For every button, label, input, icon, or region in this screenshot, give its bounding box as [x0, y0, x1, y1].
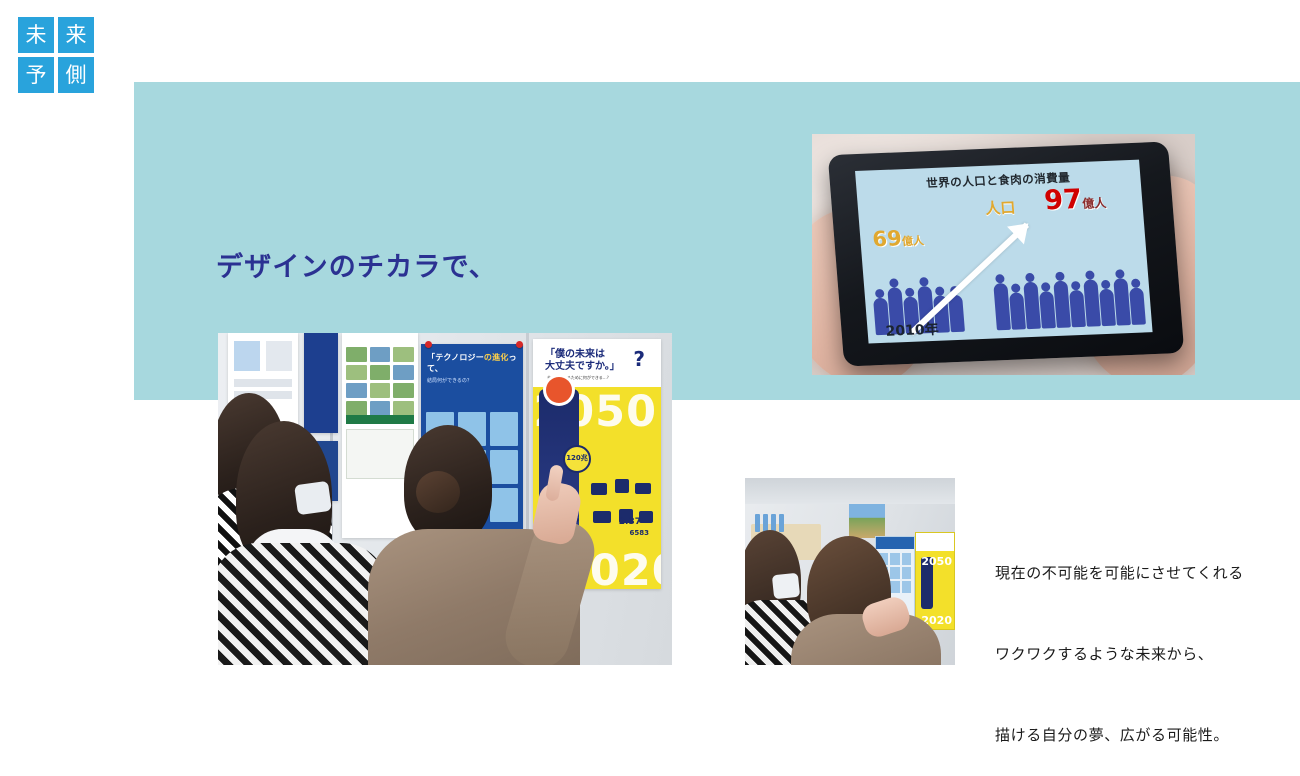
hero-headline-line-1: デザインのチカラで、	[216, 242, 610, 293]
pin-icon	[425, 341, 432, 348]
screen-start-value: 69	[871, 226, 902, 251]
poster-technology-subtitle: 結局何ができるの？	[421, 374, 523, 387]
poster-viewing-photo: 「テクノロジーの進化って、 結局何ができるの？ 「僕の未来は 大丈夫ですか。」 …	[218, 333, 672, 665]
poster-my-future-title: 「僕の未来は 大丈夫ですか。」	[545, 349, 620, 373]
classroom-face-mask	[772, 573, 800, 600]
classroom-ceiling	[745, 478, 955, 504]
student-front-left-clothing	[218, 543, 388, 665]
classroom-photo: 2050 2020	[745, 478, 955, 665]
poster-stat-6583: 6583	[630, 529, 649, 537]
screen-start-unit: 億人	[901, 234, 924, 248]
classroom-poster-year-2050: 2050	[921, 555, 952, 568]
logo-tile-yo: 予	[18, 57, 54, 93]
pin-icon	[516, 341, 523, 348]
poster-green-band	[346, 415, 414, 424]
person-icon	[1113, 269, 1131, 325]
screen-end-value-group: 97億人	[1043, 183, 1107, 216]
screen-end-unit: 億人	[1082, 196, 1107, 211]
photo-caption-line-2: ワクワクするような未来から、	[995, 641, 1244, 668]
question-mark-icon: ?	[633, 347, 645, 371]
screen-start-year: 2010年	[885, 319, 940, 341]
wall-poster-blue-small-1	[304, 333, 338, 433]
person-icon	[1023, 273, 1041, 329]
tablet-screen: 世界の人口と食肉の消費量 人口 69億人 97億人	[855, 160, 1153, 344]
tablet-device: 世界の人口と食肉の消費量 人口 69億人 97億人	[828, 141, 1185, 366]
logo-tile-rai: 来	[58, 17, 94, 53]
poster-text-box	[346, 429, 414, 479]
screen-start-value-group: 69億人	[871, 225, 924, 251]
poster-thumbnail-grid	[346, 347, 414, 416]
poster-badge-120cho: 120兆	[563, 445, 591, 473]
logo-tile-mi: 未	[18, 17, 54, 53]
photo-caption-line-1: 現在の不可能を可能にさせてくれる	[995, 560, 1244, 587]
screen-end-value: 97	[1043, 184, 1083, 216]
classroom-poster-yellow: 2050 2020	[915, 532, 955, 630]
poster-technology-title: 「テクノロジーの進化って、	[421, 344, 523, 374]
person-icon	[1083, 270, 1101, 326]
poster-stat-237: 2.37	[619, 517, 641, 527]
poster-my-future-title-line2: 大丈夫ですか。」	[545, 361, 620, 372]
person-icon	[1053, 272, 1071, 328]
poster-technology-title-part1: 「テクノロジー	[427, 353, 484, 362]
photo-caption-line-3: 描ける自分の夢、広がる可能性。	[995, 722, 1244, 749]
logo-tile-soku: 側	[58, 57, 94, 93]
person-icon	[993, 274, 1011, 330]
arrow-head-icon	[1007, 215, 1037, 245]
poster-technology-title-highlight: の進化	[484, 353, 509, 362]
student-right-hair-bun	[416, 471, 460, 513]
poster-my-future-title-line1: 「僕の未来は	[545, 349, 605, 360]
wall-picture	[849, 504, 885, 538]
site-logo[interactable]: 未 来 予 側	[18, 17, 94, 93]
tablet-photo: 世界の人口と食肉の消費量 人口 69億人 97億人	[812, 134, 1195, 375]
face-mask	[294, 481, 332, 515]
crowd-future	[993, 269, 1146, 331]
photo-caption: 現在の不可能を可能にさせてくれる ワクワクするような未来から、 描ける自分の夢、…	[995, 506, 1244, 776]
person-icon	[1128, 279, 1146, 325]
